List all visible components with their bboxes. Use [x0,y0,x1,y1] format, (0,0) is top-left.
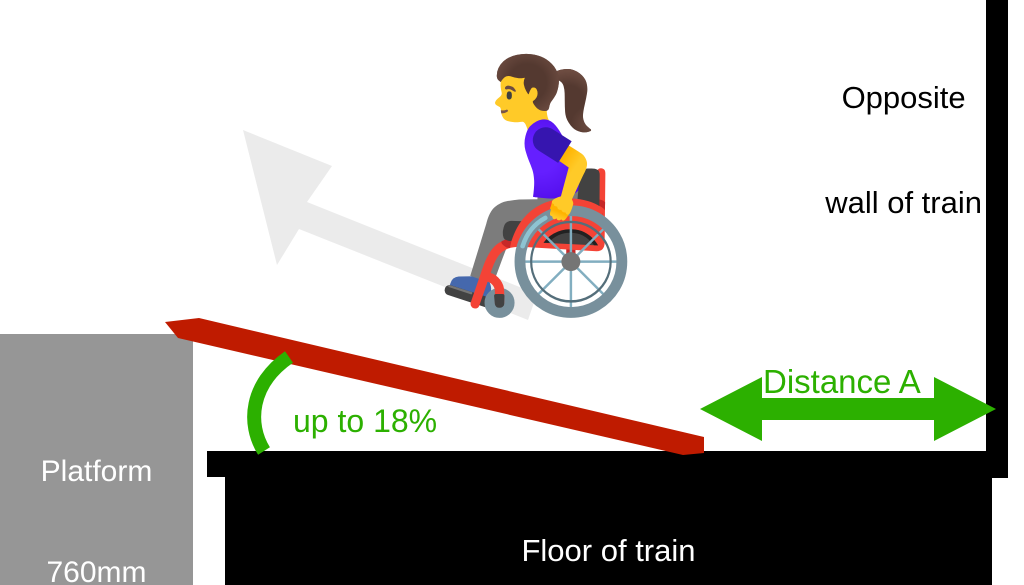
platform-height-label: Platform 760mm above rail [0,388,193,585]
diagram-canvas: Opposite wall of train Platform 760mm ab… [0,0,1024,585]
ramp-gradient-label: up to 18% [293,404,437,440]
floor-label-line1: Floor of train [225,534,992,569]
opposite-wall-label-line2: wall of train [825,186,982,221]
platform-label-line1: Platform [0,455,193,489]
distance-a-label: Distance A [763,364,921,401]
opposite-wall-label-line1: Opposite [825,81,982,116]
wheelchair-user-figure: 👩‍🦽 [390,96,620,391]
platform-label-line2: 760mm [0,556,193,585]
woman-in-manual-wheelchair-icon: 👩‍🦽 [376,52,606,304]
gradient-angle-arc [254,357,289,451]
train-floor-height-label: Floor of train 550mm above rail [225,465,992,585]
opposite-wall-label: Opposite wall of train [825,12,982,290]
